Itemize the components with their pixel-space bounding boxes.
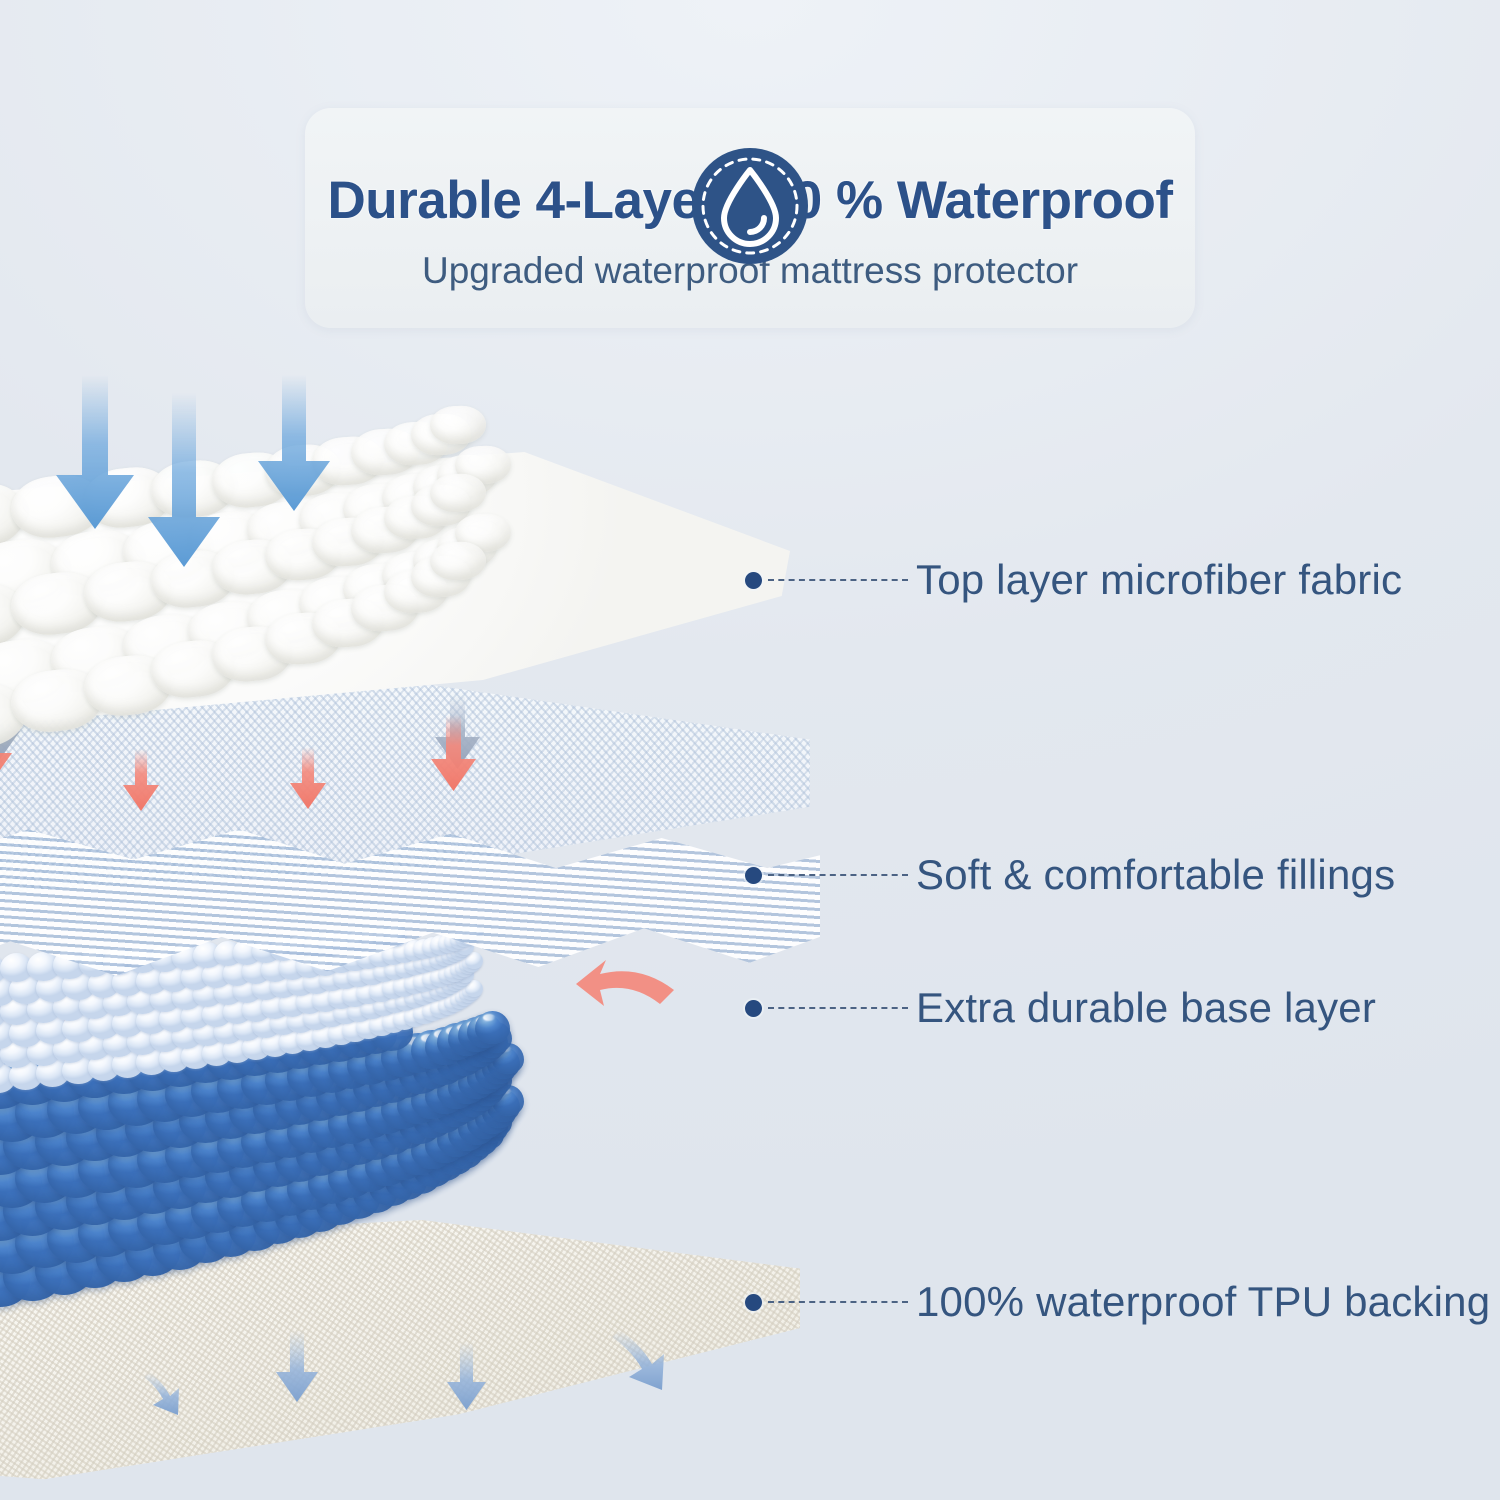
callout-dash-line bbox=[768, 1007, 908, 1009]
header-card: Durable 4-Layer 100 % Waterproof Upgrade… bbox=[305, 108, 1195, 328]
callout-dash-line bbox=[768, 579, 908, 581]
callout-fillings: Soft & comfortable fillings bbox=[745, 855, 1395, 895]
callout-dot-icon bbox=[745, 867, 762, 884]
callout-label: Extra durable base layer bbox=[916, 987, 1376, 1029]
callout-dash-line bbox=[768, 1301, 908, 1303]
infographic-canvas: Durable 4-Layer 100 % Waterproof Upgrade… bbox=[0, 0, 1500, 1500]
callout-dot-icon bbox=[745, 1294, 762, 1311]
layer-top-microfiber bbox=[0, 440, 790, 740]
callout-label: 100% waterproof TPU backing bbox=[916, 1281, 1490, 1323]
callout-dot-icon bbox=[745, 1000, 762, 1017]
callout-dot-icon bbox=[745, 572, 762, 589]
callout-tpu-backing: 100% waterproof TPU backing bbox=[745, 1282, 1490, 1322]
top-arrow-group bbox=[0, 375, 790, 675]
callout-label: Soft & comfortable fillings bbox=[916, 854, 1395, 896]
callout-label: Top layer microfiber fabric bbox=[916, 559, 1402, 601]
callout-top-layer: Top layer microfiber fabric bbox=[745, 560, 1402, 600]
water-drop-icon bbox=[690, 146, 810, 266]
callout-dash-line bbox=[768, 874, 908, 876]
callout-base-layer: Extra durable base layer bbox=[745, 988, 1376, 1028]
